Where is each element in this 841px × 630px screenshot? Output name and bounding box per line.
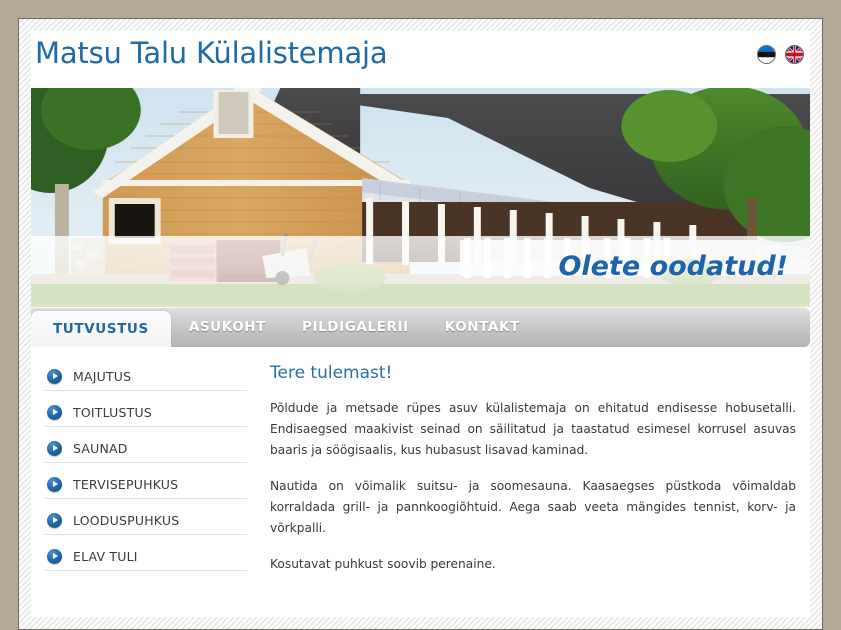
tab-pildigalerii[interactable]: PILDIGALERII <box>284 307 427 347</box>
sidebar-item-elav-tuli[interactable]: ELAV TULI <box>45 543 247 571</box>
site-header: Matsu Talu Külalistemaja <box>31 31 810 88</box>
main-navigation-bar: TUTVUSTUS ASUKOHT PILDIGALERII KONTAKT <box>31 307 810 347</box>
arrow-right-circle-icon <box>47 405 62 420</box>
sidebar-item-tervisepuhkus[interactable]: TERVISEPUHKUS <box>45 471 247 499</box>
arrow-right-circle-icon <box>47 549 62 564</box>
main-article: Tere tulemast! Põldude ja metsade rüpes … <box>247 363 802 596</box>
arrow-right-circle-icon <box>47 477 62 492</box>
arrow-right-circle-icon <box>47 513 62 528</box>
article-paragraph-3: Kosutavat puhkust soovib perenaine. <box>270 554 796 575</box>
page-title: Matsu Talu Külalistemaja <box>35 36 387 70</box>
sidebar-item-toitlustus[interactable]: TOITLUSTUS <box>45 399 247 427</box>
tab-tutvustus[interactable]: TUTVUSTUS <box>31 311 171 347</box>
arrow-right-circle-icon <box>47 441 62 456</box>
sidebar-item-label: ELAV TULI <box>73 549 138 564</box>
sidebar-item-saunad[interactable]: SAUNAD <box>45 435 247 463</box>
uk-flag-icon[interactable] <box>785 45 804 64</box>
page-inner: Matsu Talu Külalistemaja <box>31 31 810 617</box>
article-heading: Tere tulemast! <box>270 363 796 383</box>
sidebar-item-label: TOITLUSTUS <box>73 405 152 420</box>
sidebar-item-looduspuhkus[interactable]: LOODUSPUHKUS <box>45 507 247 535</box>
arrow-right-circle-icon <box>47 369 62 384</box>
sidebar-item-majutus[interactable]: MAJUTUS <box>45 363 247 391</box>
sidebar-item-label: LOODUSPUHKUS <box>73 513 179 528</box>
sidebar-item-label: TERVISEPUHKUS <box>73 477 178 492</box>
sidebar-item-label: SAUNAD <box>73 441 128 456</box>
sidebar-menu: MAJUTUS TOITLUSTUS SAUNAD TERVISEPUHKUS … <box>39 363 247 596</box>
sidebar-item-label: MAJUTUS <box>73 369 131 384</box>
tab-kontakt[interactable]: KONTAKT <box>427 307 538 347</box>
hero-banner-image: Olete oodatud! <box>31 88 810 307</box>
article-paragraph-1: Põldude ja metsade rüpes asuv külalistem… <box>270 398 796 461</box>
tab-list: TUTVUSTUS ASUKOHT PILDIGALERII KONTAKT <box>31 307 538 347</box>
estonian-flag-icon[interactable] <box>757 45 776 64</box>
banner-tagline: Olete oodatud! <box>558 251 788 282</box>
article-paragraph-2: Nautida on võimalik suitsu- ja soomesaun… <box>270 476 796 539</box>
language-switcher[interactable] <box>757 45 804 64</box>
tab-asukoht[interactable]: ASUKOHT <box>171 307 284 347</box>
content-area: MAJUTUS TOITLUSTUS SAUNAD TERVISEPUHKUS … <box>31 347 810 596</box>
page-frame: Matsu Talu Külalistemaja <box>18 18 823 630</box>
